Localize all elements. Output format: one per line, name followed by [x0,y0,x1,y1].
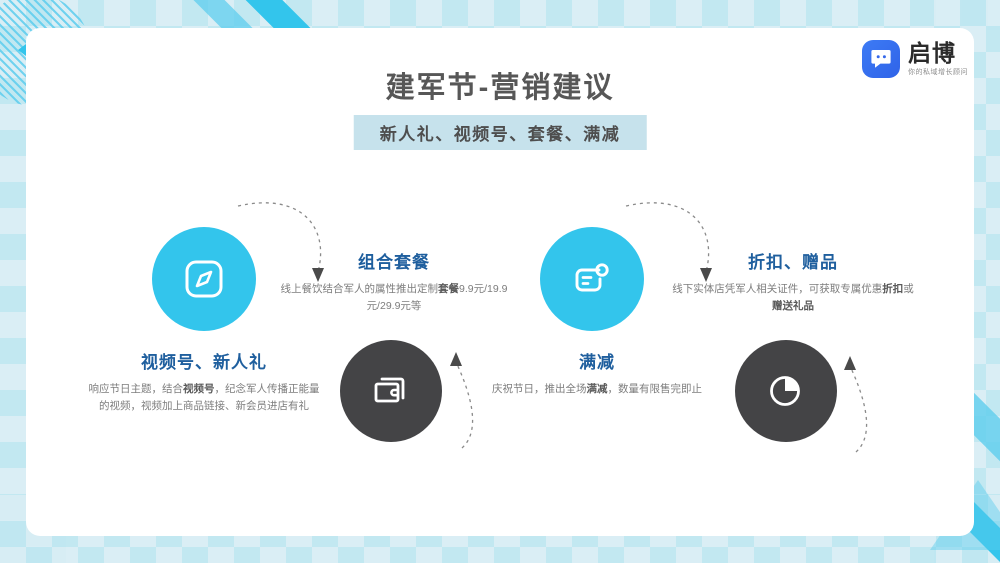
pie-chart-icon [763,368,809,414]
wallet-cards-icon [368,368,414,414]
node-heading-discount-gift: 折扣、赠品 [668,248,918,273]
slide-canvas: 建军节-营销建议 新人礼、视频号、套餐、满减 启博 你的私域增长顾问 [0,0,1000,563]
node-heading-combo-package: 组合套餐 [278,248,510,273]
brand-name: 启博 [908,42,968,65]
node-circle-combo-package[interactable] [340,340,442,442]
compass-icon [181,256,227,302]
node-text-video-account: 视频号、新人礼 响应节日主题，结合视频号，纪念军人传播正能量的视频，视频加上商品… [86,348,322,416]
diamond-pattern-top [0,0,1000,30]
brand-tagline: 你的私域增长顾问 [908,69,968,76]
node-circle-video-account[interactable] [152,227,256,331]
node-body-discount-gift: 线下实体店凭军人相关证件，可获取专属优惠折扣或赠送礼品 [668,281,918,316]
node-body-full-reduction: 庆祝节日，推出全场满减，数量有限售完即止 [480,381,714,398]
node-text-discount-gift: 折扣、赠品 线下实体店凭军人相关证件，可获取专属优惠折扣或赠送礼品 [668,248,918,316]
subtitle-band: 新人礼、视频号、套餐、满减 [354,115,647,150]
node-text-combo-package: 组合套餐 线上餐饮结合军人的属性推出定制套餐9.9元/19.9元/29.9元等 [278,248,510,316]
node-text-full-reduction: 满减 庆祝节日，推出全场满减，数量有限售完即止 [480,348,714,398]
coupon-badge-icon [569,256,615,302]
chat-bubble-face-icon [862,40,900,78]
node-circle-full-reduction[interactable] [540,227,644,331]
node-body-video-account: 响应节日主题，结合视频号，纪念军人传播正能量的视频，视频加上商品链接、新会员进店… [86,381,322,416]
page-title: 建军节-营销建议 [0,64,1000,106]
node-heading-video-account: 视频号、新人礼 [86,348,322,373]
node-circle-discount-gift[interactable] [735,340,837,442]
node-heading-full-reduction: 满减 [480,348,714,373]
brand-logo[interactable]: 启博 你的私域增长顾问 [862,40,968,78]
node-body-combo-package: 线上餐饮结合军人的属性推出定制套餐9.9元/19.9元/29.9元等 [278,281,510,316]
